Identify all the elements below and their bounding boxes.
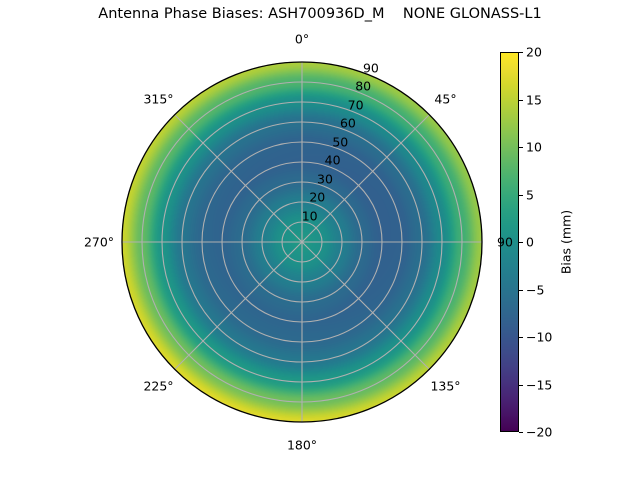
radial-tick-label: 40	[325, 153, 341, 168]
radial-tick-label: 70	[348, 97, 364, 112]
colorbar-tick-label: −15	[526, 377, 552, 392]
colorbar-tick-mark	[519, 290, 523, 291]
colorbar-tick-mark	[519, 195, 523, 196]
colorbar-tick-mark	[519, 385, 523, 386]
colorbar-tick-label: −5	[526, 282, 544, 297]
radial-tick-label: 60	[340, 116, 356, 131]
figure-canvas: Antenna Phase Biases: ASH700936D_M NONE …	[0, 0, 640, 480]
colorbar-tick-mark	[519, 52, 523, 53]
colorbar-tick-mark	[519, 147, 523, 148]
radial-tick-label: 80	[355, 79, 371, 94]
angular-tick-label: 315°	[143, 91, 173, 106]
angular-tick-label: 225°	[143, 378, 173, 393]
page-title: Antenna Phase Biases: ASH700936D_M NONE …	[0, 6, 640, 22]
radial-tick-label: 20	[309, 190, 325, 205]
colorbar-tick-label: 10	[526, 140, 542, 155]
colorbar-tick-mark	[519, 337, 523, 338]
colorbar-tick-label: −20	[526, 425, 552, 440]
colorbar-tick-mark	[519, 432, 523, 433]
radial-tick-label: 10	[302, 208, 318, 223]
grid-spokes	[122, 62, 482, 422]
angular-tick-label: 45°	[434, 91, 456, 106]
radial-tick-label: 30	[317, 171, 333, 186]
angular-tick-label: 90	[497, 235, 513, 250]
colorbar-axis-label: Bias (mm)	[559, 210, 574, 274]
angular-tick-label: 135°	[430, 378, 460, 393]
grid-spoke	[302, 242, 429, 369]
grid-spoke	[175, 242, 302, 369]
angular-tick-label: 0°	[295, 32, 309, 47]
polar-grid	[112, 52, 492, 432]
angular-tick-label: 180°	[287, 438, 317, 453]
colorbar-tick-mark	[519, 242, 523, 243]
angular-tick-label: 270°	[84, 235, 114, 250]
polar-plot-area: 102030405060708090	[112, 52, 492, 432]
colorbar-tick-mark	[519, 100, 523, 101]
colorbar-tick-label: 0	[526, 235, 534, 250]
colorbar-tick-label: 15	[526, 92, 542, 107]
radial-tick-label: 50	[332, 134, 348, 149]
grid-spoke	[175, 115, 302, 242]
colorbar-tick-label: −10	[526, 330, 552, 345]
radial-tick-label: 90	[363, 60, 379, 75]
colorbar-tick-label: 5	[526, 187, 534, 202]
colorbar-tick-label: 20	[526, 45, 542, 60]
